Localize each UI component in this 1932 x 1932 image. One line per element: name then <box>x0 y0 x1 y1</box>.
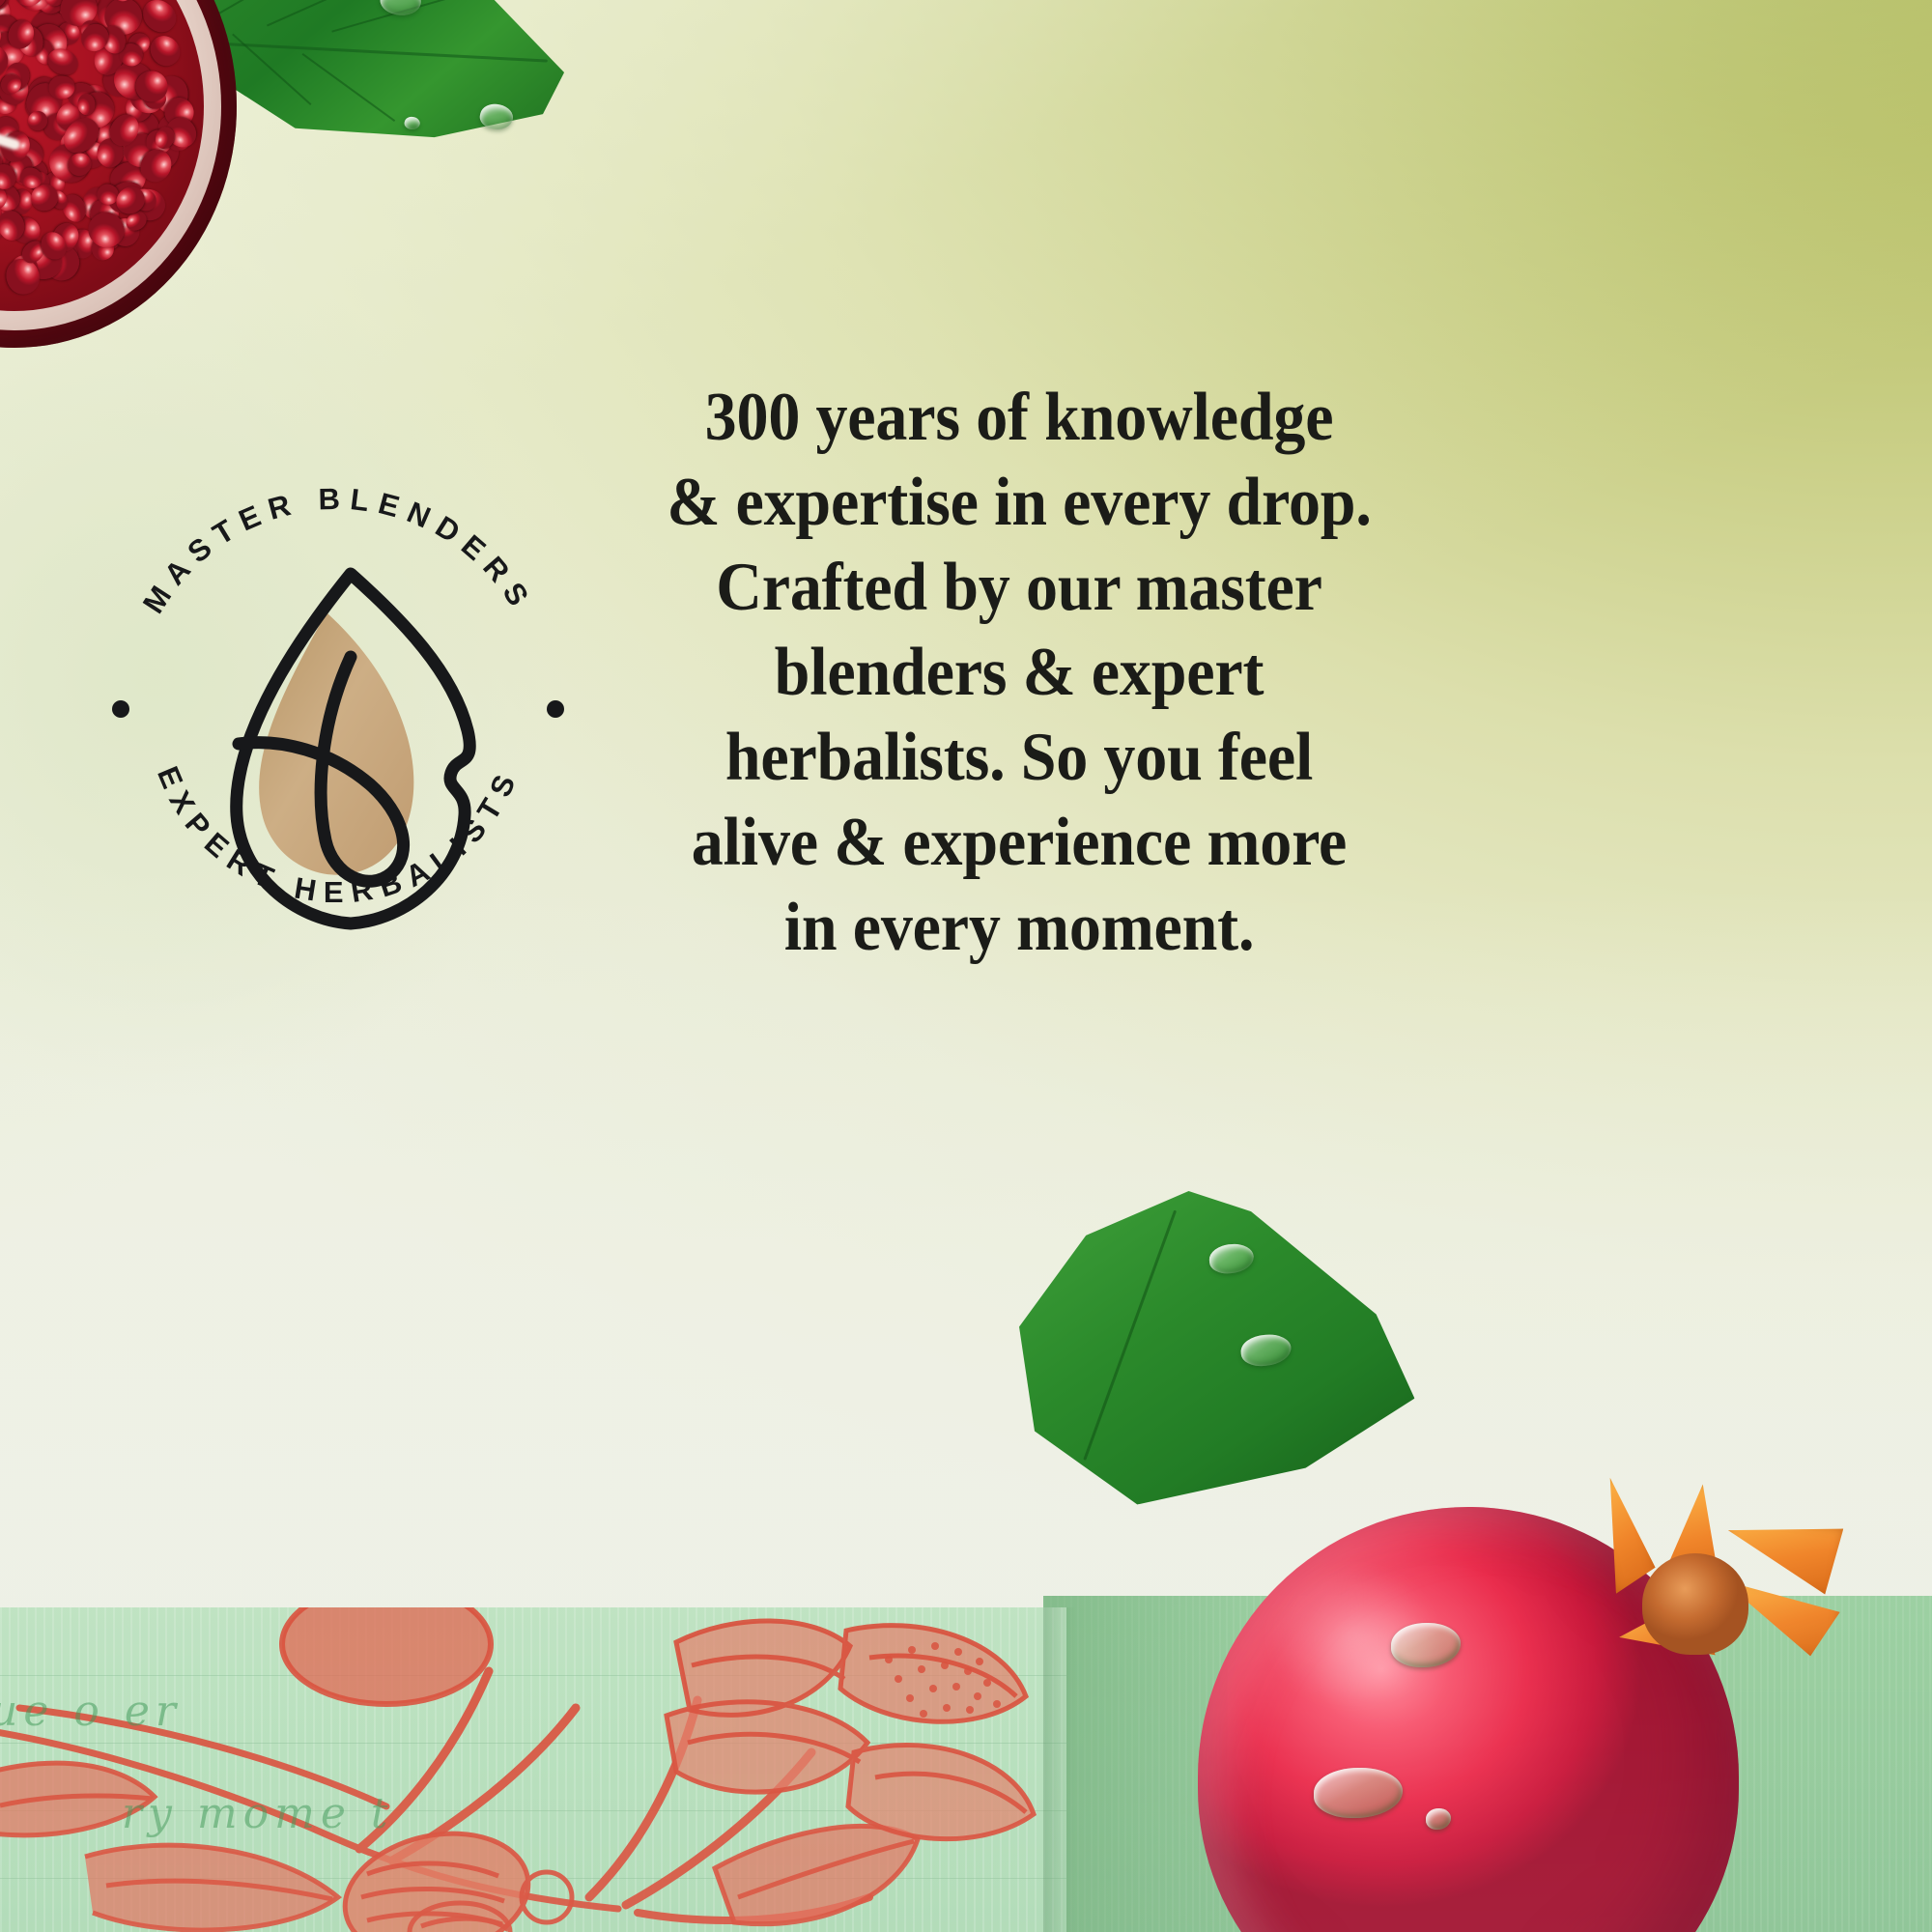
copy-line-4: blenders & expert <box>646 630 1392 715</box>
copy-line-7: in every moment. <box>646 885 1392 970</box>
headline-copy: 300 years of knowledge & expertise in ev… <box>646 375 1392 970</box>
botanical-panel-edge-shadow <box>1043 1607 1076 1932</box>
badge-dot-left <box>112 700 129 718</box>
master-blenders-badge: MASTER BLENDERS EXPERT HERBALISTS <box>92 466 584 958</box>
copy-line-2: & expertise in every drop. <box>646 460 1392 545</box>
crown-hub <box>1642 1553 1748 1655</box>
pomegranate-highlight <box>1256 1565 1497 1768</box>
top-left-pomegranate-image <box>0 0 237 348</box>
copy-line-5: herbalists. So you feel <box>646 715 1392 800</box>
copy-line-6: alive & experience more <box>646 800 1392 885</box>
badge-dot-right <box>547 700 564 718</box>
copy-line-3: Crafted by our master <box>646 545 1392 630</box>
crown-point <box>1588 1472 1659 1594</box>
botanical-script-line-1: ue o er <box>0 1687 182 1736</box>
bottom-right-pomegranate-image <box>1198 1449 1816 1932</box>
botanical-illustration-panel: ue o er ry mome t <box>0 1607 1066 1932</box>
pomegranate-aril <box>77 93 95 115</box>
botanical-script-line-2: ry mome t <box>122 1789 394 1838</box>
pomegranate-aril <box>145 30 185 71</box>
copy-line-1: 300 years of knowledge <box>646 375 1392 460</box>
poster-canvas: MASTER BLENDERS EXPERT HERBALISTS 300 ye… <box>0 0 1932 1932</box>
pomegranate-crown-icon <box>1584 1476 1845 1698</box>
